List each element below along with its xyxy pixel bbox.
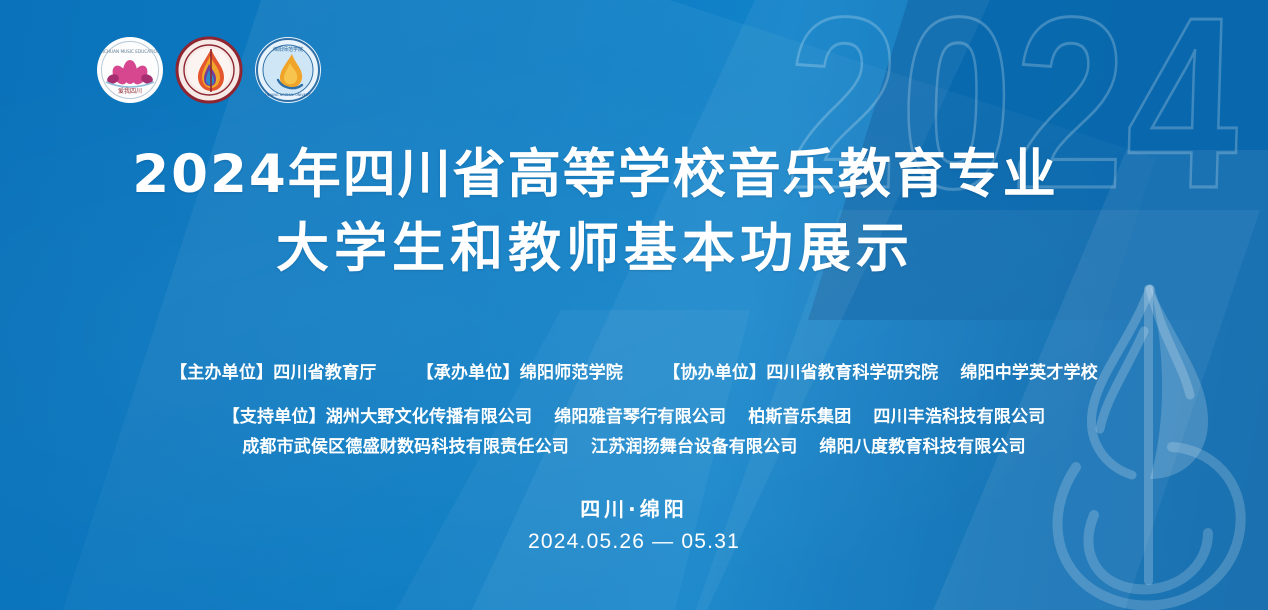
- support-company: 四川丰浩科技有限公司: [873, 407, 1045, 427]
- credit-line-support-2: 成都市武侯区德盛财数码科技有限责任公司江苏润扬舞台设备有限公司绵阳八度教育科技有…: [0, 432, 1268, 462]
- organizer-host-value: 四川省教育厅: [273, 363, 376, 383]
- organizer-organizer-label: 【承办单位】: [417, 363, 520, 383]
- organizer-coorganizer-value: 四川省教育科学研究院: [766, 363, 938, 383]
- organizer-organizer-value: 绵阳师范学院: [520, 363, 623, 383]
- credit-line-support-1: 【支持单位】湖州大野文化传播有限公司绵阳雅音琴行有限公司柏斯音乐集团四川丰浩科技…: [0, 402, 1268, 432]
- support-company: 湖州大野文化传播有限公司: [326, 407, 532, 427]
- support-company: 江苏润扬舞台设备有限公司: [591, 437, 797, 457]
- flame-emblem-blue-logo: 绵阳师范学院 MIANYANG NORMAL UNIVERSITY: [254, 36, 322, 104]
- svg-text:MIANYANG NORMAL UNIVERSITY: MIANYANG NORMAL UNIVERSITY: [260, 93, 316, 97]
- flame-emblem-red-logo: [175, 36, 243, 104]
- logo-row: SICHUAN MUSIC EDUCATION 爱我四川: [96, 36, 322, 104]
- venue-date: 2024.05.26 — 05.31: [0, 526, 1268, 558]
- credits-block: 【主办单位】四川省教育厅 【承办单位】绵阳师范学院 【协办单位】四川省教育科学研…: [0, 358, 1268, 462]
- organizer-coorganizer-label: 【协办单位】: [663, 363, 766, 383]
- event-poster: 2024: [0, 0, 1268, 610]
- title-line-1: 2024年四川省高等学校音乐教育专业: [0, 138, 1190, 212]
- venue-place: 四川·绵阳: [0, 494, 1268, 524]
- title-line-2: 大学生和教师基本功展示: [0, 212, 1190, 286]
- svg-text:爱我四川: 爱我四川: [118, 87, 142, 95]
- page-title: 2024年四川省高等学校音乐教育专业 大学生和教师基本功展示: [0, 138, 1190, 286]
- support-company: 绵阳雅音琴行有限公司: [554, 407, 726, 427]
- support-company: 成都市武侯区德盛财数码科技有限责任公司: [242, 437, 569, 457]
- lotus-emblem-logo: SICHUAN MUSIC EDUCATION 爱我四川: [96, 36, 164, 104]
- credit-line-organizers: 【主办单位】四川省教育厅 【承办单位】绵阳师范学院 【协办单位】四川省教育科学研…: [0, 358, 1268, 388]
- svg-text:SICHUAN MUSIC EDUCATION: SICHUAN MUSIC EDUCATION: [100, 49, 160, 54]
- organizer-organizer: 【承办单位】绵阳师范学院: [417, 363, 623, 383]
- support-label: 【支持单位】: [223, 407, 326, 427]
- organizer-host-label: 【主办单位】: [170, 363, 273, 383]
- support-company: 绵阳八度教育科技有限公司: [819, 437, 1025, 457]
- venue-block: 四川·绵阳 2024.05.26 — 05.31: [0, 494, 1268, 558]
- svg-text:绵阳师范学院: 绵阳师范学院: [273, 46, 303, 53]
- organizer-coorganizer: 【协办单位】四川省教育科学研究院绵阳中学英才学校: [663, 363, 1098, 383]
- support-company: 柏斯音乐集团: [748, 407, 851, 427]
- organizer-coorganizer-value2: 绵阳中学英才学校: [960, 363, 1098, 383]
- organizer-host: 【主办单位】四川省教育厅: [170, 363, 376, 383]
